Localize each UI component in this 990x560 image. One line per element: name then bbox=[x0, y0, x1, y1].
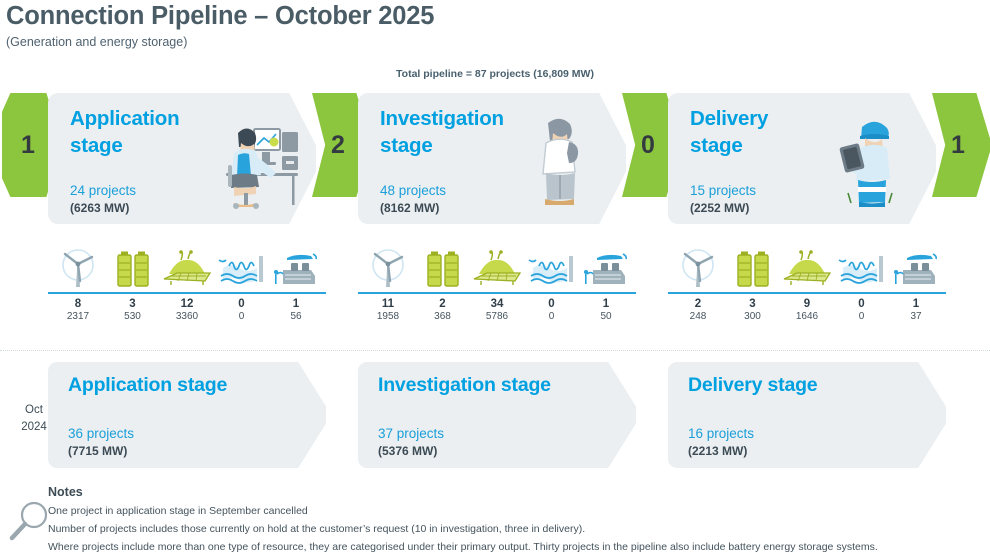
stage-card-title: Delivery stage bbox=[690, 105, 768, 159]
prior-card-delivery[interactable]: Delivery stage 16 projects (2213 MW) bbox=[668, 362, 946, 468]
prior-card-title: Investigation stage bbox=[378, 374, 551, 397]
note-line: One project in application stage in Sept… bbox=[48, 505, 308, 517]
tech-stat: 123360 bbox=[161, 297, 213, 324]
prior-card-mw: (5376 MW) bbox=[378, 444, 437, 458]
tech-stat: 2248 bbox=[672, 297, 724, 324]
tech-stat: 150 bbox=[580, 297, 632, 324]
chevron-count: 0 bbox=[641, 131, 655, 160]
tech-breakdown-application: 82317 3530 123360 00 156 bbox=[48, 246, 326, 326]
stage-row: 1 Application stage 24 projects (6263 MW… bbox=[0, 93, 990, 238]
engineer-with-tablet-icon bbox=[818, 107, 922, 211]
stage-card-projects: 15 projects bbox=[690, 183, 756, 198]
stage-card-mw: (6263 MW) bbox=[70, 201, 129, 215]
wind-turbine-icon bbox=[52, 246, 104, 288]
tech-stat: 00 bbox=[836, 297, 888, 324]
total-pipeline-summary: Total pipeline = 87 projects (16,809 MW) bbox=[0, 68, 990, 80]
tech-icon-row bbox=[668, 246, 946, 288]
prior-card-application[interactable]: Application stage 36 projects (7715 MW) bbox=[48, 362, 326, 468]
stage-card-projects: 24 projects bbox=[70, 183, 136, 198]
stage-card-investigation[interactable]: Investigation stage 48 projects (8162 MW… bbox=[358, 93, 626, 224]
page-title: Connection Pipeline – October 2025 bbox=[6, 2, 434, 31]
connection-pipeline-infographic: Connection Pipeline – October 2025 (Gene… bbox=[0, 0, 990, 560]
thermal-plant-icon bbox=[890, 246, 942, 288]
hydro-dam-icon bbox=[526, 246, 578, 288]
stage-card-mw: (8162 MW) bbox=[380, 201, 439, 215]
wind-turbine-icon bbox=[362, 246, 414, 288]
stage-card-title: Investigation stage bbox=[380, 105, 504, 159]
prior-card-projects: 36 projects bbox=[68, 426, 134, 441]
chevron-out-of-pipeline: 1 bbox=[932, 93, 990, 197]
tech-stat: 345786 bbox=[471, 297, 523, 324]
tech-number-row: 82317 3530 123360 00 156 bbox=[48, 294, 326, 324]
tech-stat: 111958 bbox=[362, 297, 414, 324]
stage-card-projects: 48 projects bbox=[380, 183, 446, 198]
person-standing-icon bbox=[508, 107, 612, 211]
thermal-plant-icon bbox=[580, 246, 632, 288]
solar-farm-icon bbox=[471, 246, 523, 288]
prior-card-title: Delivery stage bbox=[688, 374, 817, 397]
stage-card-application[interactable]: Application stage 24 projects (6263 MW) bbox=[48, 93, 316, 224]
prior-card-projects: 37 projects bbox=[378, 426, 444, 441]
wind-turbine-icon bbox=[672, 246, 724, 288]
tech-number-row: 111958 2368 345786 00 150 bbox=[358, 294, 636, 324]
chevron-count: 2 bbox=[331, 131, 345, 160]
tech-breakdown-delivery: 2248 3300 91646 00 137 bbox=[668, 246, 946, 326]
section-divider bbox=[0, 350, 990, 351]
tech-breakdown-investigation: 111958 2368 345786 00 150 bbox=[358, 246, 636, 326]
battery-storage-icon bbox=[727, 246, 779, 288]
tech-stat: 3300 bbox=[727, 297, 779, 324]
battery-storage-icon bbox=[417, 246, 469, 288]
tech-stat: 00 bbox=[216, 297, 268, 324]
solar-farm-icon bbox=[781, 246, 833, 288]
tech-stat: 2368 bbox=[417, 297, 469, 324]
stage-card-mw: (2252 MW) bbox=[690, 201, 749, 215]
hydro-dam-icon bbox=[216, 246, 268, 288]
tech-stat: 156 bbox=[270, 297, 322, 324]
prior-card-mw: (7715 MW) bbox=[68, 444, 127, 458]
prior-card-mw: (2213 MW) bbox=[688, 444, 747, 458]
battery-storage-icon bbox=[107, 246, 159, 288]
chevron-count: 1 bbox=[21, 131, 35, 160]
solar-farm-icon bbox=[161, 246, 213, 288]
tech-icon-row bbox=[358, 246, 636, 288]
notes-heading: Notes bbox=[48, 485, 83, 499]
stage-card-title: Application stage bbox=[70, 105, 179, 159]
tech-stat: 137 bbox=[890, 297, 942, 324]
thermal-plant-icon bbox=[270, 246, 322, 288]
tech-stat: 91646 bbox=[781, 297, 833, 324]
prior-card-title: Application stage bbox=[68, 374, 227, 397]
prior-year-row: Oct 2024 Application stage 36 projects (… bbox=[0, 362, 990, 474]
tech-stat: 82317 bbox=[52, 297, 104, 324]
chevron-count: 1 bbox=[951, 131, 965, 160]
magnifier-icon bbox=[6, 498, 52, 544]
stage-card-delivery[interactable]: Delivery stage 15 projects (2252 MW) bbox=[668, 93, 936, 224]
page-subtitle: (Generation and energy storage) bbox=[6, 35, 187, 49]
prior-card-investigation[interactable]: Investigation stage 37 projects (5376 MW… bbox=[358, 362, 636, 468]
tech-stat: 00 bbox=[526, 297, 578, 324]
hydro-dam-icon bbox=[836, 246, 888, 288]
tech-stat: 3530 bbox=[107, 297, 159, 324]
prior-card-projects: 16 projects bbox=[688, 426, 754, 441]
tech-icon-row bbox=[48, 246, 326, 288]
notes-section: Notes One project in application stage i… bbox=[0, 478, 990, 560]
person-at-desk-icon bbox=[198, 107, 302, 211]
note-line: Number of projects includes those curren… bbox=[48, 523, 585, 535]
note-line: Where projects include more than one typ… bbox=[48, 541, 878, 553]
tech-number-row: 2248 3300 91646 00 137 bbox=[668, 294, 946, 324]
